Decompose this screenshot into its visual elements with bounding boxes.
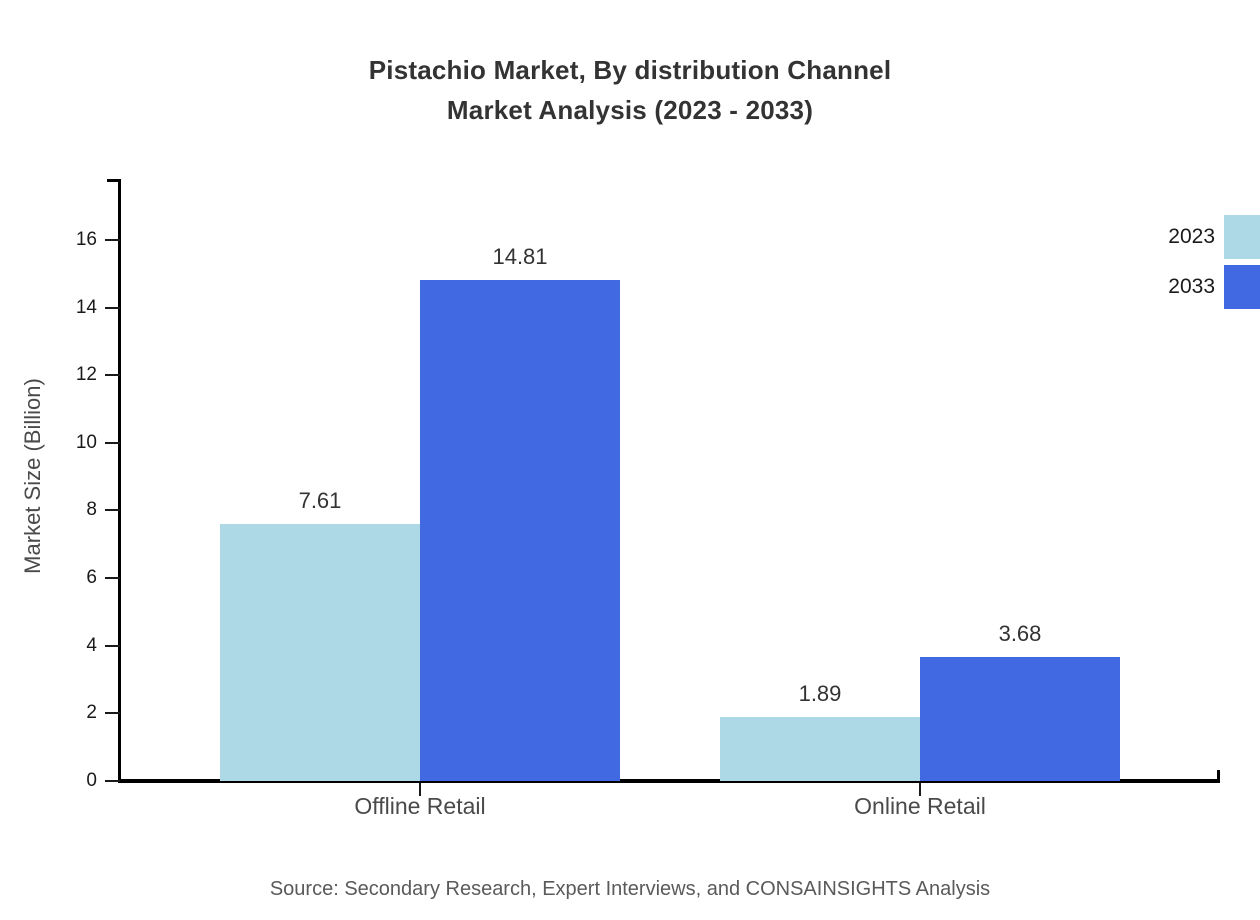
x-tick-label-online-retail: Online Retail [710,793,1130,820]
y-tick-mark [105,239,120,241]
bar-value-label-offline-retail-2023: 7.61 [210,488,430,514]
chart-figure: Pistachio Market, By distribution Channe… [0,0,1260,920]
y-tick-label: 12 [37,364,97,386]
y-tick-mark [105,374,120,376]
bar-online-retail-2033[interactable] [920,657,1120,781]
y-tick-label: 14 [37,297,97,319]
bar-value-label-offline-retail-2033: 14.81 [410,244,630,270]
legend-item-2033[interactable]: 2033 [1105,265,1260,309]
chart-title: Pistachio Market, By distribution Channe… [0,50,1260,130]
bar-online-retail-2023[interactable] [720,717,920,781]
bar-value-label-online-retail-2023: 1.89 [710,681,930,707]
chart-legend: 20232033 [1105,215,1260,315]
legend-color-swatch [1224,265,1260,309]
chart-title-line-1: Pistachio Market, By distribution Channe… [0,50,1260,90]
y-tick-mark [105,780,120,782]
legend-color-swatch [1224,215,1260,259]
bar-offline-retail-2033[interactable] [420,280,620,781]
y-tick-label: 4 [37,635,97,657]
plot-area [120,179,1220,781]
legend-label: 2033 [1105,265,1215,309]
y-tick-label: 6 [37,567,97,589]
source-note: Source: Secondary Research, Expert Inter… [0,878,1260,901]
legend-item-2023[interactable]: 2023 [1105,215,1260,259]
y-tick-label: 10 [37,432,97,454]
y-axis-title: Market Size (Billion) [20,216,46,736]
y-tick-mark [105,307,120,309]
y-tick-mark [105,442,120,444]
y-tick-label: 8 [37,499,97,521]
y-tick-mark [105,645,120,647]
y-tick-mark [105,712,120,714]
legend-label: 2023 [1105,215,1215,259]
y-tick-label: 0 [37,770,97,792]
bar-offline-retail-2023[interactable] [220,524,420,781]
x-tick-label-offline-retail: Offline Retail [210,793,630,820]
chart-title-line-2: Market Analysis (2023 - 2033) [0,90,1260,130]
y-tick-mark [105,577,120,579]
y-tick-mark [105,509,120,511]
bar-value-label-online-retail-2033: 3.68 [910,621,1130,647]
y-tick-label: 16 [37,229,97,251]
y-tick-label: 2 [37,702,97,724]
